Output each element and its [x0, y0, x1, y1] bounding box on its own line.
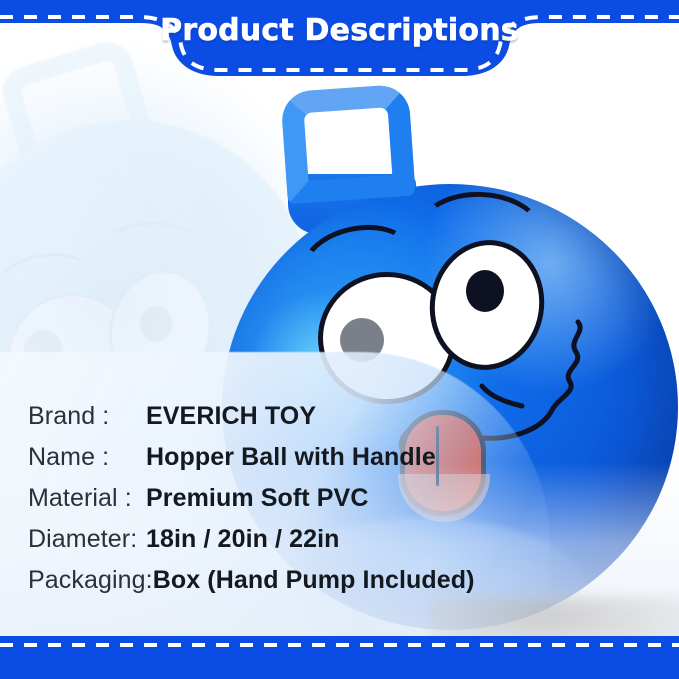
ghost-pupil-right [140, 306, 172, 342]
spec-row-packaging: Packaging: Box (Hand Pump Included) [28, 566, 628, 607]
footer-fill [0, 636, 679, 679]
page-title: Product Descriptions [0, 13, 679, 48]
spec-row-material: Material : Premium Soft PVC [28, 484, 628, 525]
header-banner: Product Descriptions [0, 0, 679, 90]
spec-label-brand: Brand : [28, 402, 146, 431]
spec-row-brand: Brand : EVERICH TOY [28, 402, 628, 443]
spec-value-material: Premium Soft PVC [146, 484, 368, 513]
spec-label-diameter: Diameter: [28, 525, 146, 554]
footer-banner [0, 636, 679, 679]
spec-label-packaging: Packaging: [28, 566, 153, 595]
spec-value-packaging: Box (Hand Pump Included) [153, 566, 475, 595]
spec-value-brand: EVERICH TOY [146, 402, 316, 431]
spec-value-name: Hopper Ball with Handle [146, 443, 436, 472]
product-spec-list: Brand : EVERICH TOY Name : Hopper Ball w… [28, 402, 628, 607]
product-description-image: Product Descriptions Brand : EVERICH TOY… [0, 0, 679, 679]
spec-label-name: Name : [28, 443, 146, 472]
spec-value-diameter: 18in / 20in / 22in [146, 525, 340, 554]
spec-row-name: Name : Hopper Ball with Handle [28, 443, 628, 484]
footer-shape [0, 636, 679, 679]
spec-label-material: Material : [28, 484, 146, 513]
spec-row-diameter: Diameter: 18in / 20in / 22in [28, 525, 628, 566]
pupil-right [466, 270, 504, 312]
